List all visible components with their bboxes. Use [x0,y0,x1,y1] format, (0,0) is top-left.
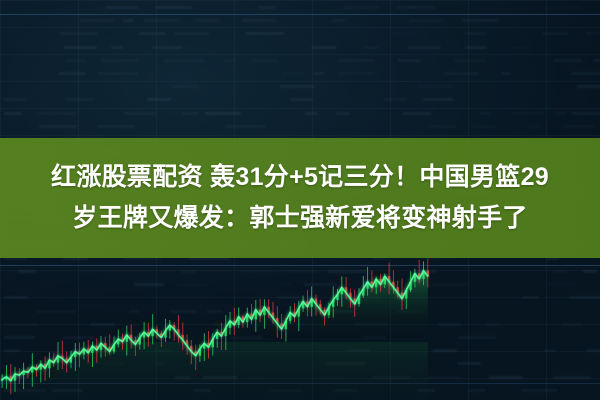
headline-line-2: 岁王牌又爆发：郭士强新爱将变神射手了 [72,198,527,239]
background-divider-top [0,14,600,15]
candlestick-chart [0,243,430,400]
candlestick-chart-svg [0,243,430,400]
headline-line-1: 红涨股票配资 轰31分+5记三分！中国男篮29 [51,157,549,198]
headline-banner: 红涨股票配资 轰31分+5记三分！中国男篮29 岁王牌又爆发：郭士强新爱将变神射… [0,138,600,258]
image-root: 红涨股票配资 轰31分+5记三分！中国男篮29 岁王牌又爆发：郭士强新爱将变神射… [0,0,600,400]
